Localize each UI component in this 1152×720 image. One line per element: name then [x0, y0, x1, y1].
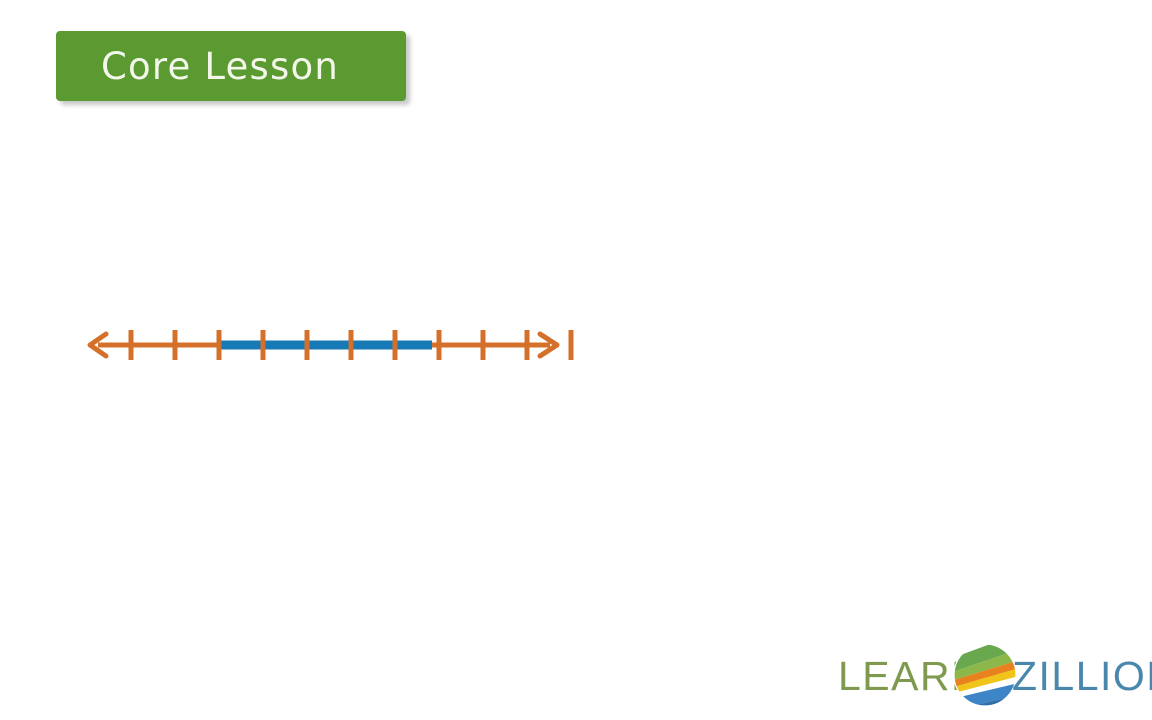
number-line-left-arrow — [90, 334, 106, 356]
core-lesson-banner: Core Lesson — [56, 31, 406, 101]
number-line-figure — [0, 0, 1152, 720]
learnzillion-logo: LEARN ZILLION — [836, 640, 1146, 712]
globe-icon — [952, 642, 1018, 708]
number-line-right-arrow — [540, 334, 557, 356]
logo-word-zillion: ZILLION — [1012, 656, 1152, 697]
number-line-group — [90, 330, 571, 360]
slide-canvas: Core Lesson LEARN — [0, 0, 1152, 720]
core-lesson-banner-label: Core Lesson — [56, 48, 339, 85]
number-line-svg — [0, 0, 1152, 720]
